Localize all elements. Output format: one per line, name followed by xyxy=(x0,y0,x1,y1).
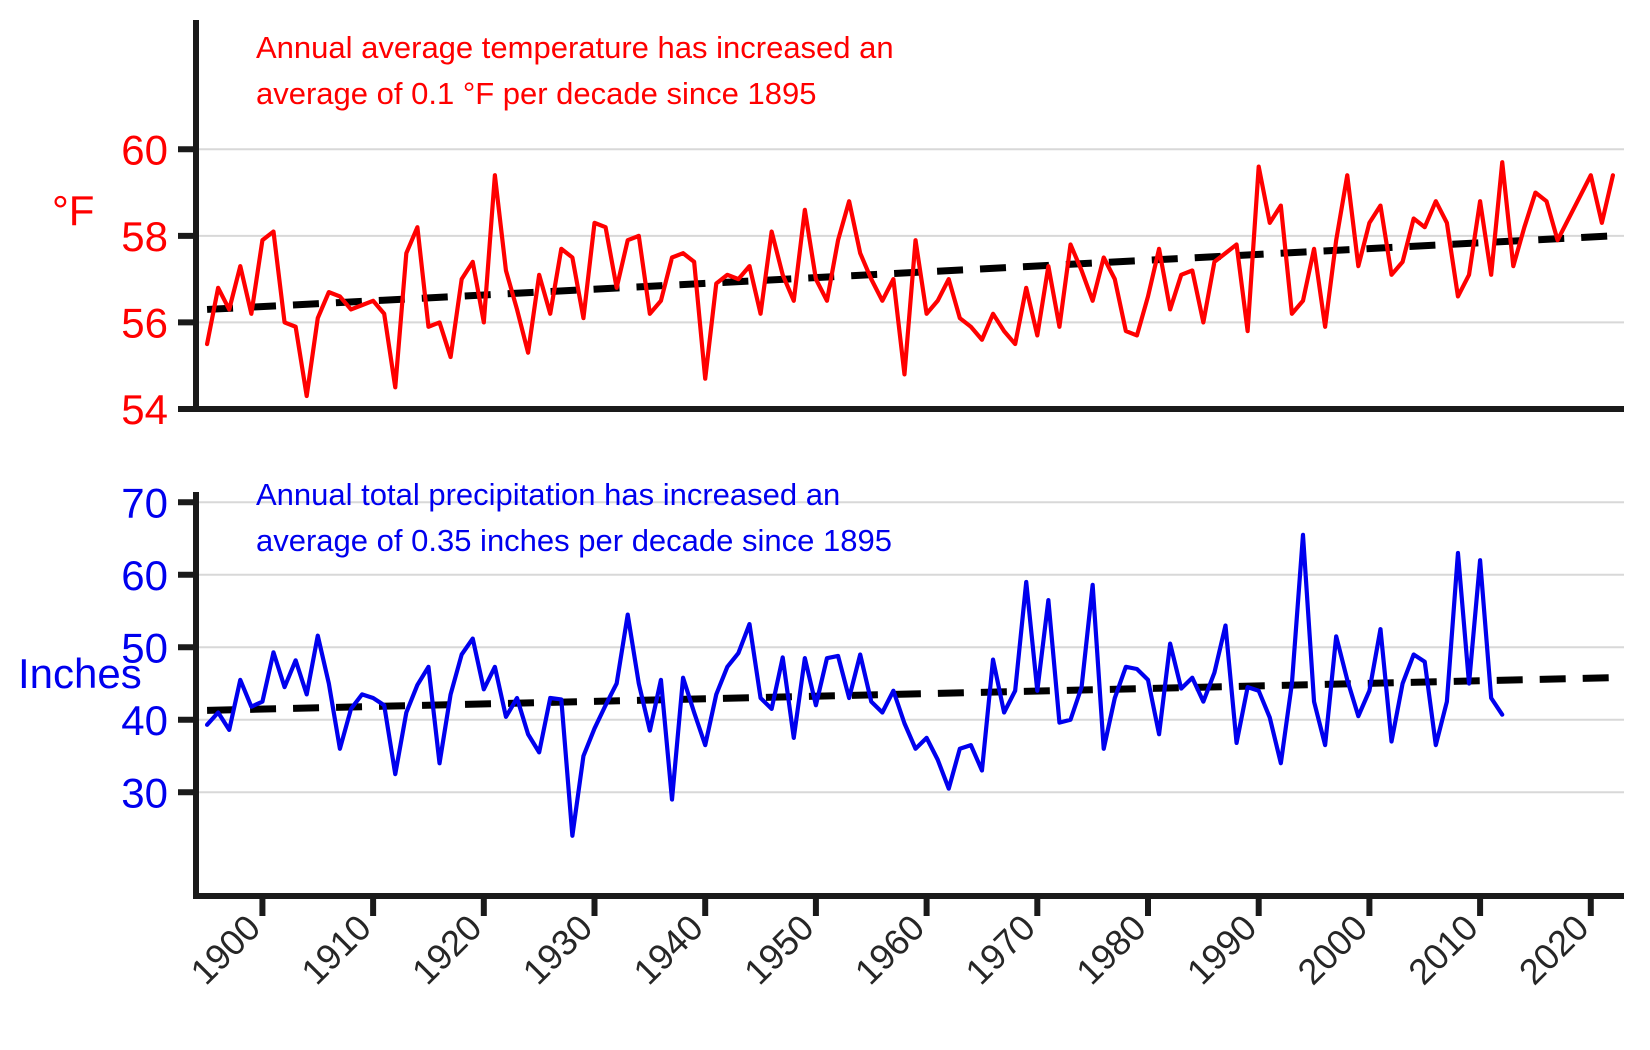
temperature-gridlines xyxy=(196,149,1624,409)
y-tick-label: 30 xyxy=(121,769,168,816)
y-tick-label: 70 xyxy=(121,479,168,526)
temperature-panel: 54565860 °F Annual average temperature h… xyxy=(52,20,1624,433)
temperature-annotation-line1: Annual average temperature has increased… xyxy=(256,30,894,65)
y-tick-label: 60 xyxy=(121,126,168,173)
x-tick-label: 1940 xyxy=(625,907,711,993)
y-tick-label: 54 xyxy=(121,386,168,433)
x-tick-label: 2000 xyxy=(1289,907,1375,993)
x-tick-label: 1970 xyxy=(957,907,1043,993)
temperature-series-line xyxy=(207,162,1613,396)
precipitation-axis-title: Inches xyxy=(18,650,142,697)
precipitation-x-tick-labels: 1900191019201930194019501960197019801990… xyxy=(182,907,1596,993)
y-tick-label: 60 xyxy=(121,552,168,599)
x-tick-label: 1990 xyxy=(1179,907,1265,993)
y-tick-label: 40 xyxy=(121,697,168,744)
temperature-axis-title: °F xyxy=(52,187,94,234)
x-tick-label: 1910 xyxy=(293,907,379,993)
x-tick-label: 1930 xyxy=(515,907,601,993)
precipitation-y-tick-labels: 3040506070 xyxy=(121,479,168,816)
x-tick-label: 1920 xyxy=(404,907,490,993)
figure-svg: 54565860 °F Annual average temperature h… xyxy=(0,0,1650,1050)
precipitation-annotation-line2: average of 0.35 inches per decade since … xyxy=(256,523,892,558)
x-tick-label: 1960 xyxy=(847,907,933,993)
x-tick-label: 2020 xyxy=(1511,907,1597,993)
temperature-annotation-line2: average of 0.1 °F per decade since 1895 xyxy=(256,76,816,111)
precipitation-panel: 3040506070 19001910192019301940195019601… xyxy=(18,477,1624,992)
precipitation-series-line xyxy=(207,535,1502,836)
y-tick-label: 56 xyxy=(121,299,168,346)
climate-trends-figure: 54565860 °F Annual average temperature h… xyxy=(0,0,1650,1050)
x-tick-label: 1980 xyxy=(1068,907,1154,993)
x-tick-label: 1950 xyxy=(736,907,822,993)
y-tick-label: 58 xyxy=(121,213,168,260)
x-tick-label: 1900 xyxy=(182,907,268,993)
precipitation-annotation-line1: Annual total precipitation has increased… xyxy=(256,477,840,512)
temperature-y-tick-labels: 54565860 xyxy=(121,126,168,433)
x-tick-label: 2010 xyxy=(1400,907,1486,993)
